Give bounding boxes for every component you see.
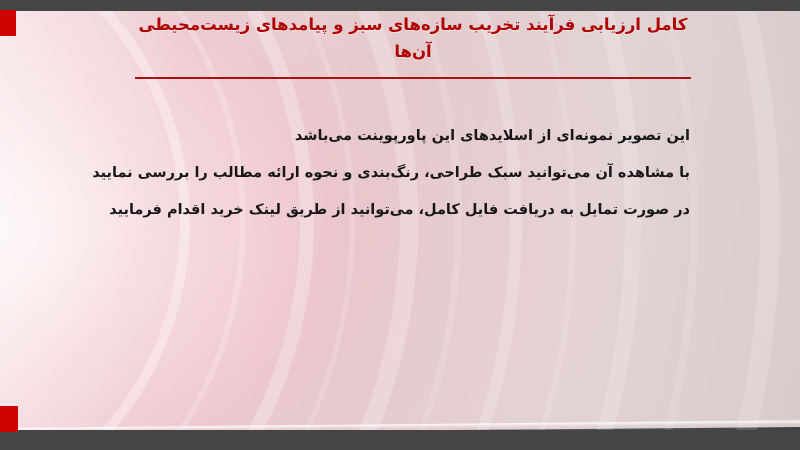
body-line-2: با مشاهده آن می‌توانید سبک طراحی، رنگ‌بن… bbox=[120, 155, 690, 192]
body-text-block: این تصویر نمونه‌ای از اسلایدهای این پاور… bbox=[120, 118, 690, 229]
body-line-3: در صورت تمایل به دریافت فایل کامل، می‌تو… bbox=[120, 192, 690, 229]
slide-canvas: کامل ارزیابی فرآیند تخریب سازه‌های سبز و… bbox=[0, 0, 800, 450]
title-divider bbox=[135, 77, 691, 79]
page-title: کامل ارزیابی فرآیند تخریب سازه‌های سبز و… bbox=[130, 12, 696, 65]
title-block: کامل ارزیابی فرآیند تخریب سازه‌های سبز و… bbox=[130, 12, 696, 65]
body-line-1: این تصویر نمونه‌ای از اسلایدهای این پاور… bbox=[120, 118, 690, 155]
